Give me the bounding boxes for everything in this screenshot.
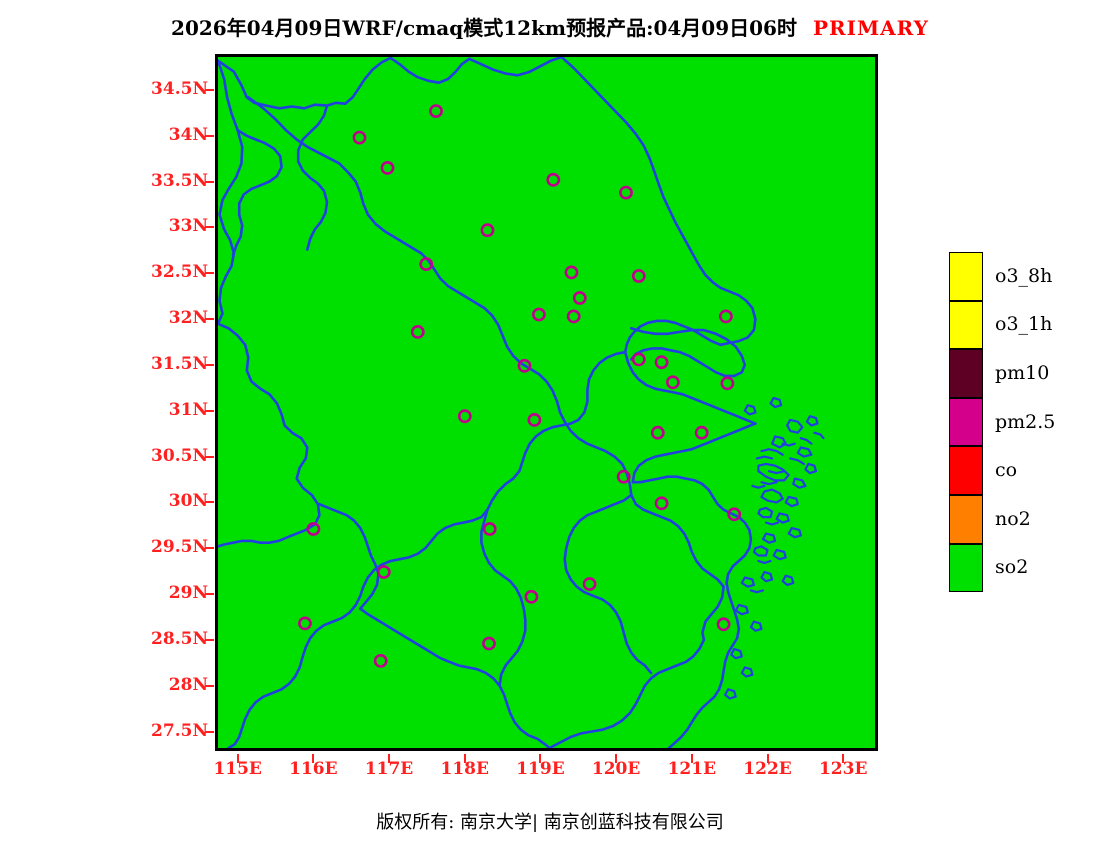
x-axis-tick-label: 120E xyxy=(586,761,646,778)
copyright-text: 版权所有: 南京大学| 南京创蓝科技有限公司 xyxy=(376,812,724,833)
legend-row[interactable]: o3_8h xyxy=(949,252,1094,301)
legend-label: o3_8h xyxy=(995,267,1052,286)
legend-label: so2 xyxy=(995,558,1028,577)
legend-color-swatch xyxy=(949,398,983,447)
x-axis-tick-mark xyxy=(615,754,617,763)
legend-row[interactable]: pm10 xyxy=(949,349,1094,398)
x-axis-tick-label: 118E xyxy=(435,761,495,778)
x-axis-tick-mark xyxy=(842,754,844,763)
legend-row[interactable]: no2 xyxy=(949,495,1094,544)
x-axis-tick-mark xyxy=(464,754,466,763)
legend-row[interactable]: so2 xyxy=(949,544,1094,593)
legend-label: no2 xyxy=(995,510,1031,529)
x-axis-tick-label: 116E xyxy=(283,761,343,778)
legend-color-swatch xyxy=(949,446,983,495)
legend-color-swatch xyxy=(949,544,983,593)
legend-label: pm2.5 xyxy=(995,413,1055,432)
legend-row[interactable]: o3_1h xyxy=(949,301,1094,350)
x-axis-tick-label: 115E xyxy=(208,761,268,778)
x-axis-tick-label: 121E xyxy=(662,761,722,778)
x-axis-tick-mark xyxy=(767,754,769,763)
forecast-map-page: 2026年04月09日WRF/cmaq模式12km预报产品:04月09日06时P… xyxy=(0,0,1100,850)
pollutant-legend: o3_8ho3_1hpm10pm2.5cono2so2 xyxy=(949,252,1094,592)
legend-color-swatch xyxy=(949,495,983,544)
legend-color-swatch xyxy=(949,252,983,301)
footer: 版权所有: 南京大学| 南京创蓝科技有限公司 xyxy=(0,808,1100,834)
legend-label: co xyxy=(995,461,1017,480)
x-axis-tick-mark xyxy=(388,754,390,763)
legend-row[interactable]: pm2.5 xyxy=(949,398,1094,447)
legend-label: pm10 xyxy=(995,364,1049,383)
x-axis-tick-label: 123E xyxy=(813,761,873,778)
x-axis-tick-mark xyxy=(237,754,239,763)
x-axis-tick-label: 117E xyxy=(359,761,419,778)
x-axis-tick-mark xyxy=(312,754,314,763)
legend-label: o3_1h xyxy=(995,315,1052,334)
x-axis-tick-label: 122E xyxy=(738,761,798,778)
x-axis-labels: 115E116E117E118E119E120E121E122E123E xyxy=(0,0,1100,850)
legend-color-swatch xyxy=(949,349,983,398)
legend-color-swatch xyxy=(949,301,983,350)
legend-row[interactable]: co xyxy=(949,446,1094,495)
x-axis-tick-label: 119E xyxy=(510,761,570,778)
x-axis-tick-mark xyxy=(539,754,541,763)
x-axis-tick-mark xyxy=(691,754,693,763)
